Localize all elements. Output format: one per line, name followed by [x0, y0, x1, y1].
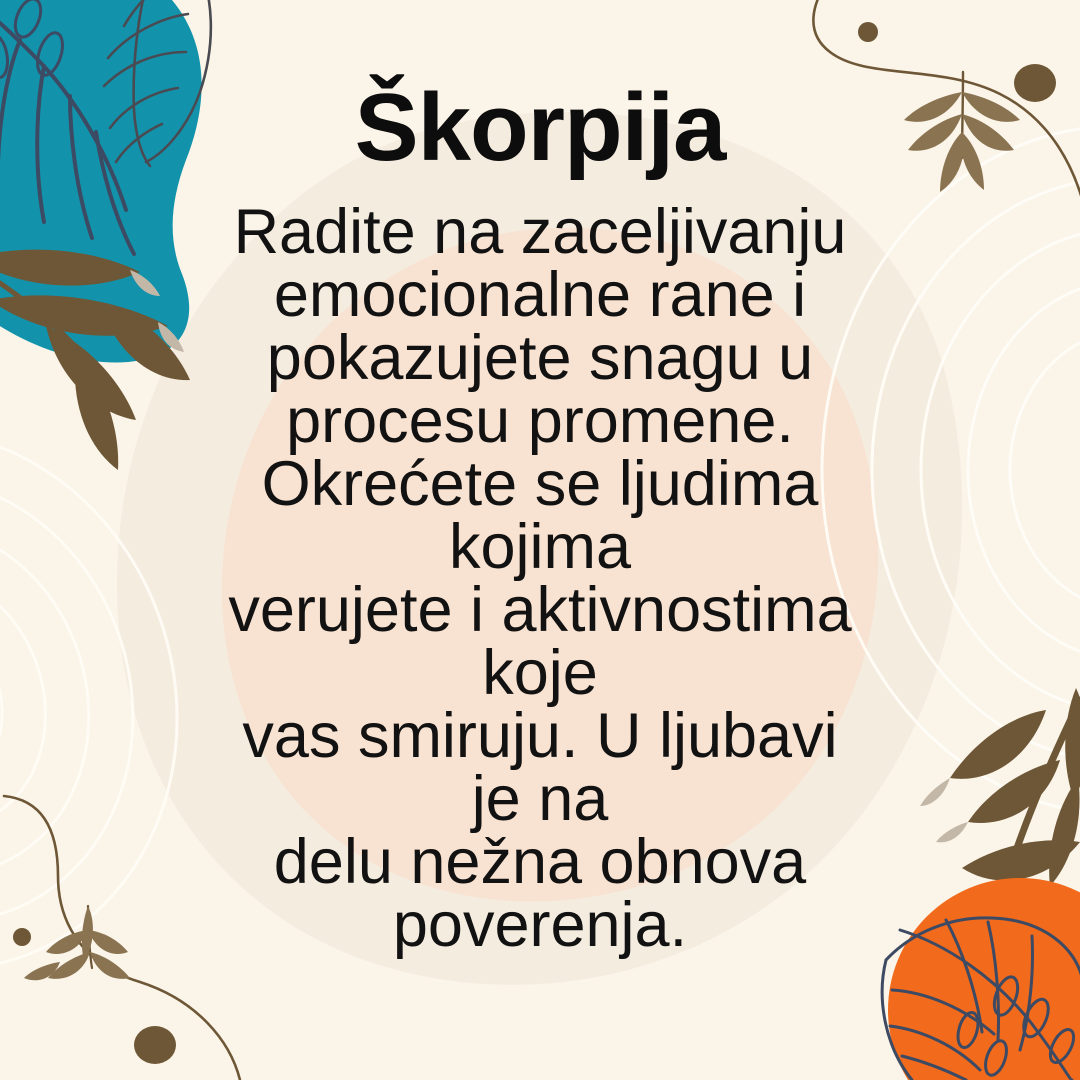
card-content: Škorpija Radite na zaceljivanju emociona… — [0, 0, 1080, 1080]
horoscope-card: Škorpija Radite na zaceljivanju emociona… — [0, 0, 1080, 1080]
page-title: Škorpija — [355, 78, 726, 179]
horoscope-body-text: Radite na zaceljivanju emocionalne rane … — [210, 201, 870, 957]
